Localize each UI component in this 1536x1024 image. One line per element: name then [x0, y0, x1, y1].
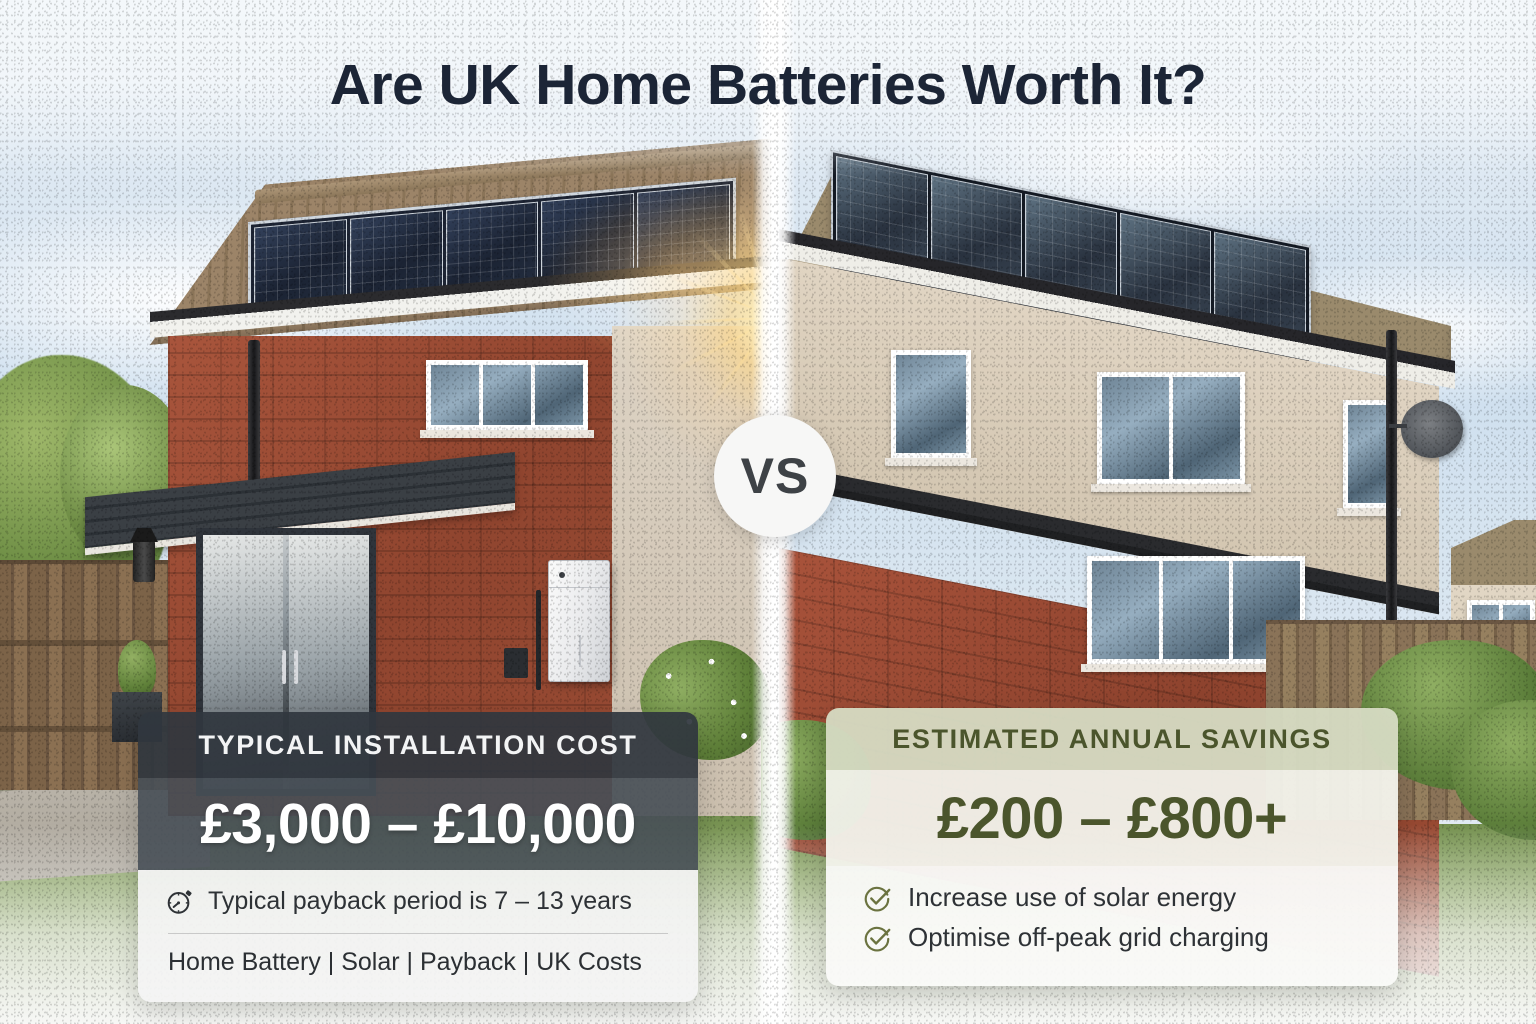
- installation-cost-card: TYPICAL INSTALLATION COST £3,000 – £10,0…: [138, 712, 698, 1002]
- check-circle-icon: [862, 883, 892, 913]
- benefit-label: Increase use of solar energy: [908, 882, 1236, 913]
- benefit-label: Optimise off-peak grid charging: [908, 922, 1269, 953]
- payback-note-row: Typical payback period is 7 – 13 years: [164, 886, 672, 916]
- right-window-left: [891, 350, 971, 458]
- topic-tags: Home Battery | Solar | Payback | UK Cost…: [164, 948, 672, 977]
- left-upper-window-sill: [420, 430, 594, 438]
- left-door-handle-a: [282, 650, 286, 684]
- stopwatch-icon: [164, 886, 194, 916]
- right-window-center-sill: [1091, 484, 1251, 492]
- battery-isolator-box: [504, 648, 528, 678]
- installation-cost-body: Typical payback period is 7 – 13 years H…: [138, 870, 698, 1002]
- battery-status-led: [559, 572, 565, 578]
- vs-badge: VS: [714, 415, 836, 537]
- annual-savings-body: Increase use of solar energy Optimise of…: [826, 866, 1398, 986]
- right-downpipe: [1386, 330, 1397, 660]
- page-title: Are UK Home Batteries Worth It?: [0, 52, 1536, 118]
- left-topiary-plant: [118, 640, 156, 698]
- home-battery-unit: [548, 560, 610, 682]
- annual-savings-heading: ESTIMATED ANNUAL SAVINGS: [826, 708, 1398, 770]
- infographic-canvas: Are UK Home Batteries Worth It? VS TYPIC…: [0, 0, 1536, 1024]
- left-door-handle-b: [294, 650, 298, 684]
- satellite-dish-icon: [1401, 400, 1463, 458]
- left-upper-window: [426, 360, 588, 430]
- installation-cost-heading: TYPICAL INSTALLATION COST: [138, 712, 698, 778]
- right-window-center: [1097, 372, 1245, 484]
- benefit-item: Increase use of solar energy: [862, 882, 1398, 913]
- benefit-item: Optimise off-peak grid charging: [862, 922, 1398, 953]
- neighbour-roof: [1451, 520, 1536, 590]
- installation-cost-value: £3,000 – £10,000: [138, 778, 698, 870]
- card-divider-rule: [168, 933, 668, 934]
- left-fence-rail-upper: [0, 640, 195, 646]
- right-window-left-sill: [885, 458, 977, 466]
- battery-conduit: [536, 590, 541, 690]
- check-circle-icon: [862, 923, 892, 953]
- annual-savings-card: ESTIMATED ANNUAL SAVINGS £200 – £800+ In…: [826, 708, 1398, 986]
- wall-lantern-icon: [133, 540, 155, 582]
- payback-note-text: Typical payback period is 7 – 13 years: [208, 887, 632, 916]
- vs-badge-label: VS: [741, 447, 810, 505]
- annual-savings-value: £200 – £800+: [826, 770, 1398, 866]
